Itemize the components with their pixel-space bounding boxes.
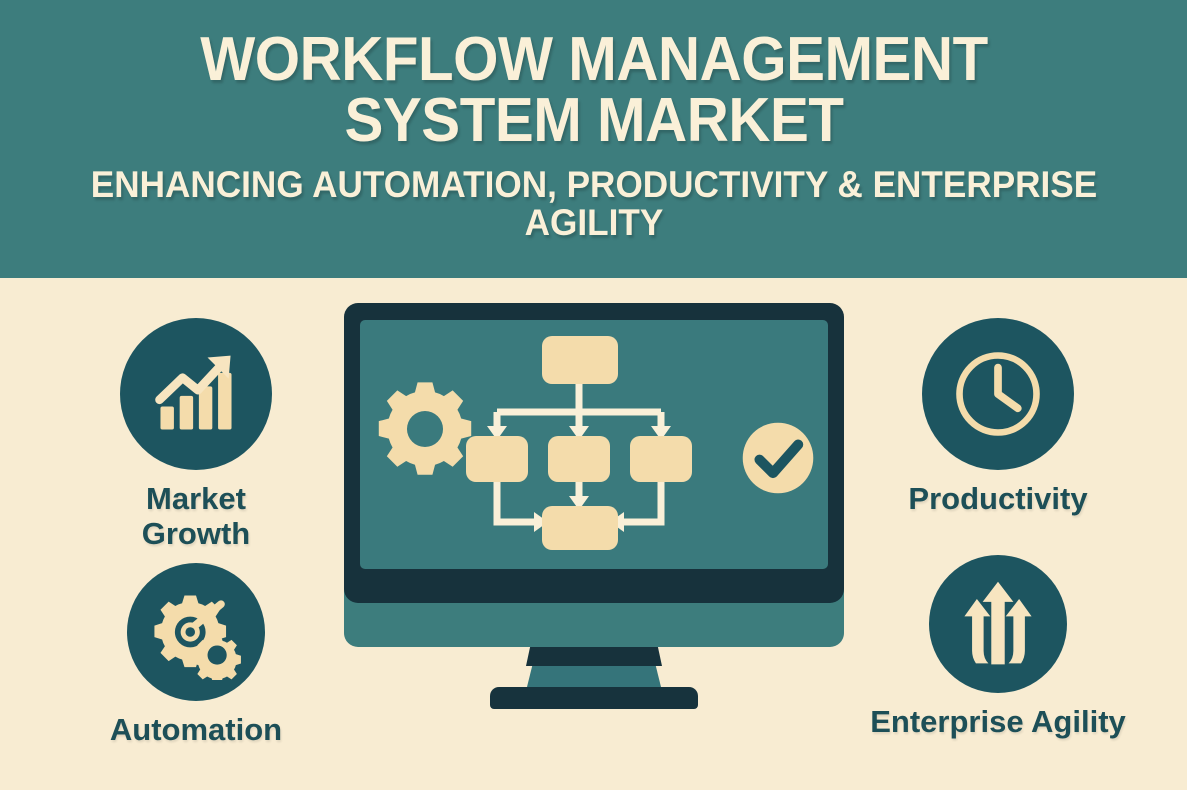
clock-icon <box>943 339 1053 449</box>
page-subtitle: ENHANCING AUTOMATION, PRODUCTIVITY & ENT… <box>43 166 1145 244</box>
market-growth-icon-circle <box>120 318 272 470</box>
feature-enterprise-agility[interactable]: Enterprise Agility <box>858 555 1138 740</box>
page-title-line-1: WORKFLOW MANAGEMENT <box>124 30 1064 91</box>
check-circle-glyph <box>736 416 820 500</box>
page-title-line-2: SYSTEM MARKET <box>124 91 1064 152</box>
feature-automation[interactable]: Automation <box>96 563 296 748</box>
monitor-screen <box>360 320 828 569</box>
flow-node-root <box>542 336 618 384</box>
feature-productivity-label: Productivity <box>908 482 1087 517</box>
page-title: WORKFLOW MANAGEMENT SYSTEM MARKET <box>124 30 1064 152</box>
check-circle-icon <box>736 416 820 505</box>
three-up-arrows-icon <box>950 576 1046 672</box>
monitor-stand-neck-top <box>526 647 662 666</box>
feature-market-growth-label: Market Growth <box>142 482 251 551</box>
enterprise-agility-icon-circle <box>929 555 1067 693</box>
header-band: WORKFLOW MANAGEMENT SYSTEM MARKET ENHANC… <box>0 0 1187 278</box>
gear-glyph <box>372 376 478 482</box>
feature-productivity[interactable]: Productivity <box>898 318 1098 517</box>
flow-node-branch-3 <box>630 436 692 482</box>
productivity-icon-circle <box>922 318 1074 470</box>
settings-gear-icon <box>372 376 478 487</box>
feature-market-growth[interactable]: Market Growth <box>106 318 286 551</box>
feature-enterprise-agility-label: Enterprise Agility <box>870 705 1126 740</box>
flow-node-branch-2 <box>548 436 610 482</box>
flow-node-branch-1 <box>466 436 528 482</box>
desktop-monitor-illustration <box>344 303 844 648</box>
monitor-stand-base <box>490 687 698 709</box>
workflow-diagram-svg <box>464 330 694 560</box>
gears-automation-icon <box>148 584 244 680</box>
monitor-bezel <box>344 303 844 603</box>
flow-node-merge <box>542 506 618 550</box>
automation-icon-circle <box>127 563 265 701</box>
bar-chart-growth-icon <box>148 346 244 442</box>
workflow-diagram <box>464 330 694 565</box>
infographic-canvas: WORKFLOW MANAGEMENT SYSTEM MARKET ENHANC… <box>0 0 1187 790</box>
feature-automation-label: Automation <box>110 713 282 748</box>
